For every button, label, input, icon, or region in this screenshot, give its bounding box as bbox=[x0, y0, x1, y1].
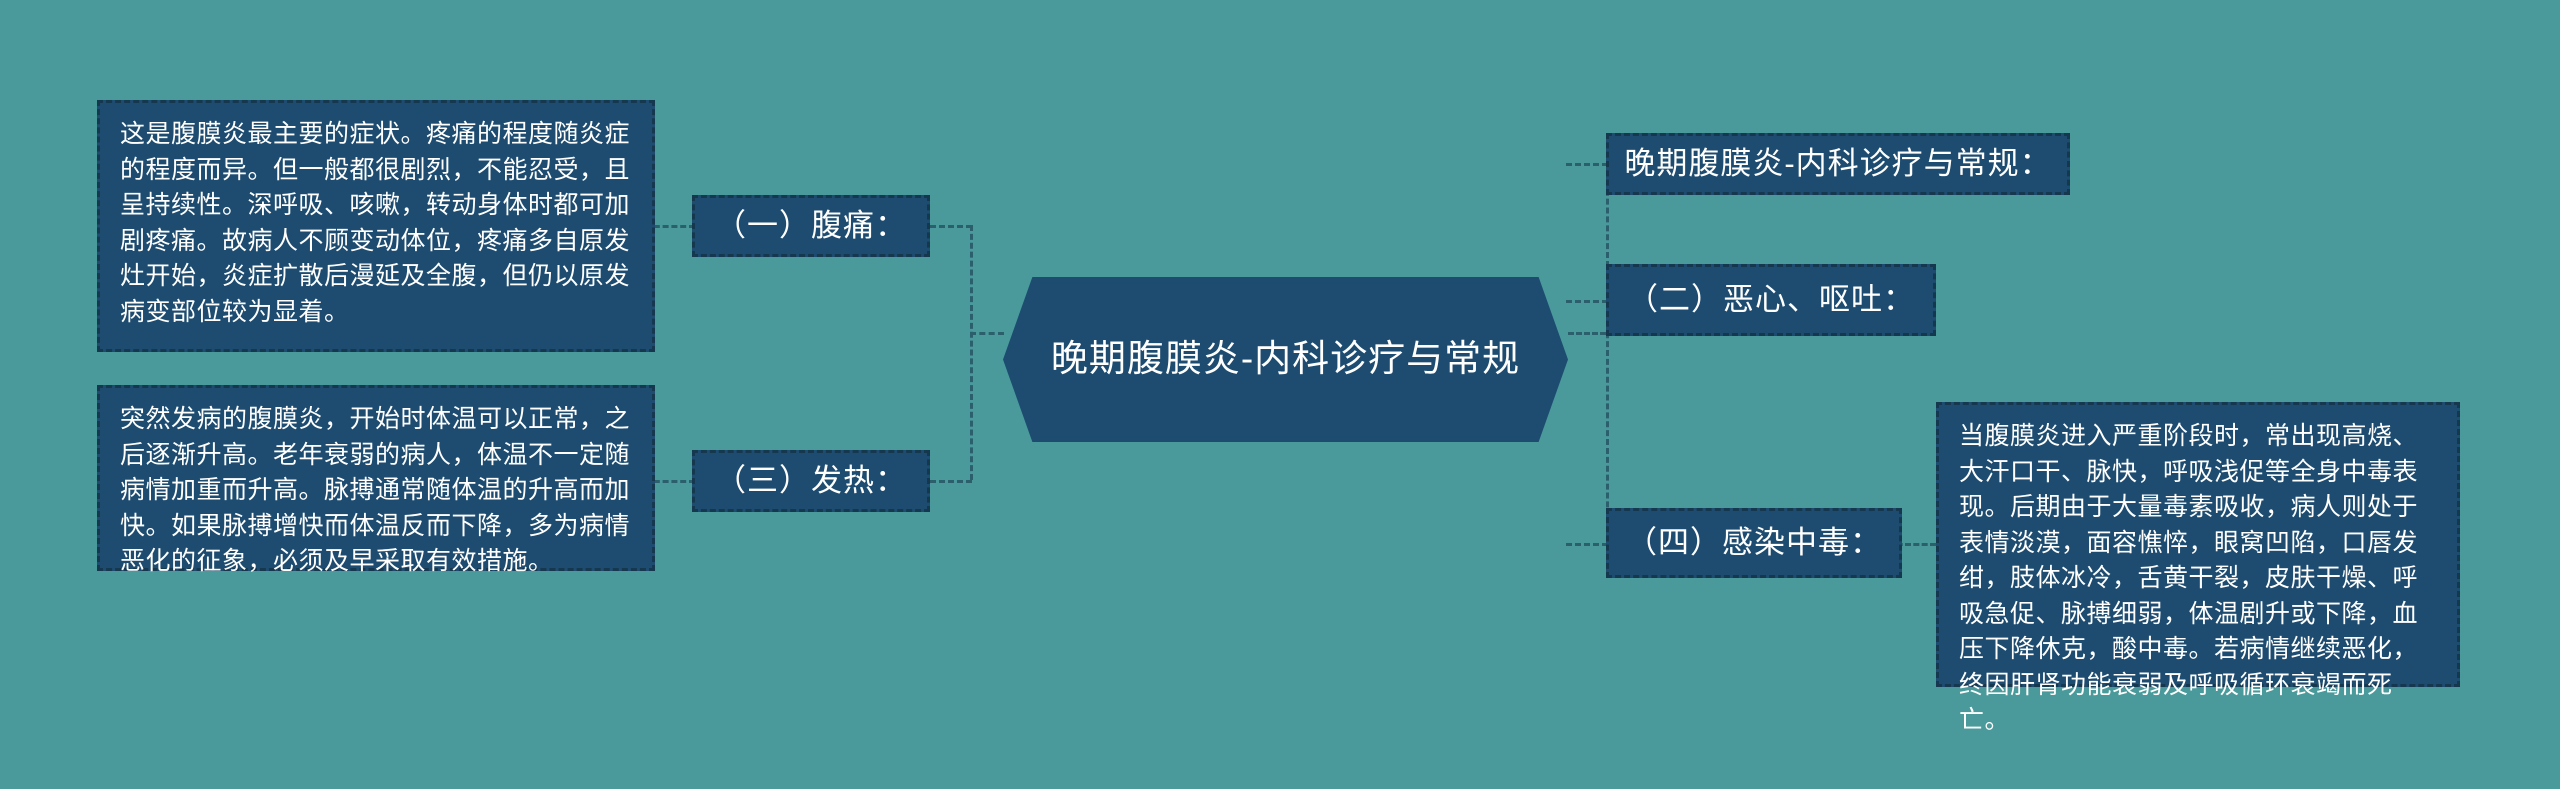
connector-right-to-node2 bbox=[1566, 300, 1608, 303]
left-branch-1-detail-box: 这是腹膜炎最主要的症状。疼痛的程度随炎症的程度而异。但一般都很剧烈，不能忍受，且… bbox=[97, 100, 655, 352]
right-branch-3-detail-text: 当腹膜炎进入严重阶段时，常出现高烧、大汗口干、脉快，呼吸浅促等全身中毒表现。后期… bbox=[1959, 419, 2439, 739]
right-branch-2-label: （二）恶心、呕吐： bbox=[1609, 281, 1933, 320]
left-branch-2-label: （三）发热： bbox=[695, 462, 927, 501]
connector-left-to-node2 bbox=[930, 480, 972, 483]
right-branch-1-label: 晚期腹膜炎-内科诊疗与常规： bbox=[1609, 145, 2067, 184]
central-topic-title: 晚期腹膜炎-内科诊疗与常规 bbox=[1015, 335, 1556, 384]
right-branch-1-label-node[interactable]: 晚期腹膜炎-内科诊疗与常规： bbox=[1606, 133, 2070, 195]
right-branch-2-label-node[interactable]: （二）恶心、呕吐： bbox=[1606, 264, 1936, 336]
right-branch-3-label-node[interactable]: （四）感染中毒： bbox=[1606, 508, 1902, 578]
connector-center-left-trunk bbox=[970, 332, 1004, 335]
left-branch-1-label: （一）腹痛： bbox=[695, 207, 927, 246]
mindmap-canvas: 这是腹膜炎最主要的症状。疼痛的程度随炎症的程度而异。但一般都很剧烈，不能忍受，且… bbox=[0, 0, 2560, 789]
connector-right-to-node1 bbox=[1566, 163, 1608, 166]
left-branch-2-detail-text: 突然发病的腹膜炎，开始时体温可以正常，之后逐渐升高。老年衰弱的病人，体温不一定随… bbox=[120, 402, 634, 580]
connector-left-to-node1 bbox=[930, 225, 972, 228]
central-topic-node[interactable]: 晚期腹膜炎-内科诊疗与常规 bbox=[1003, 277, 1568, 442]
connector-right-to-node3 bbox=[1566, 543, 1608, 546]
connector-left-spine bbox=[970, 225, 973, 480]
left-branch-2-detail-box: 突然发病的腹膜炎，开始时体温可以正常，之后逐渐升高。老年衰弱的病人，体温不一定随… bbox=[97, 385, 655, 571]
left-branch-2-label-node[interactable]: （三）发热： bbox=[692, 450, 930, 512]
left-branch-1-detail-text: 这是腹膜炎最主要的症状。疼痛的程度随炎症的程度而异。但一般都很剧烈，不能忍受，且… bbox=[120, 117, 634, 330]
right-branch-3-label: （四）感染中毒： bbox=[1609, 524, 1899, 563]
right-branch-3-detail-box: 当腹膜炎进入严重阶段时，常出现高烧、大汗口干、脉快，呼吸浅促等全身中毒表现。后期… bbox=[1936, 402, 2460, 687]
left-branch-1-label-node[interactable]: （一）腹痛： bbox=[692, 195, 930, 257]
connector-right-spine bbox=[1606, 163, 1609, 543]
connector-center-right-trunk bbox=[1568, 332, 1606, 335]
